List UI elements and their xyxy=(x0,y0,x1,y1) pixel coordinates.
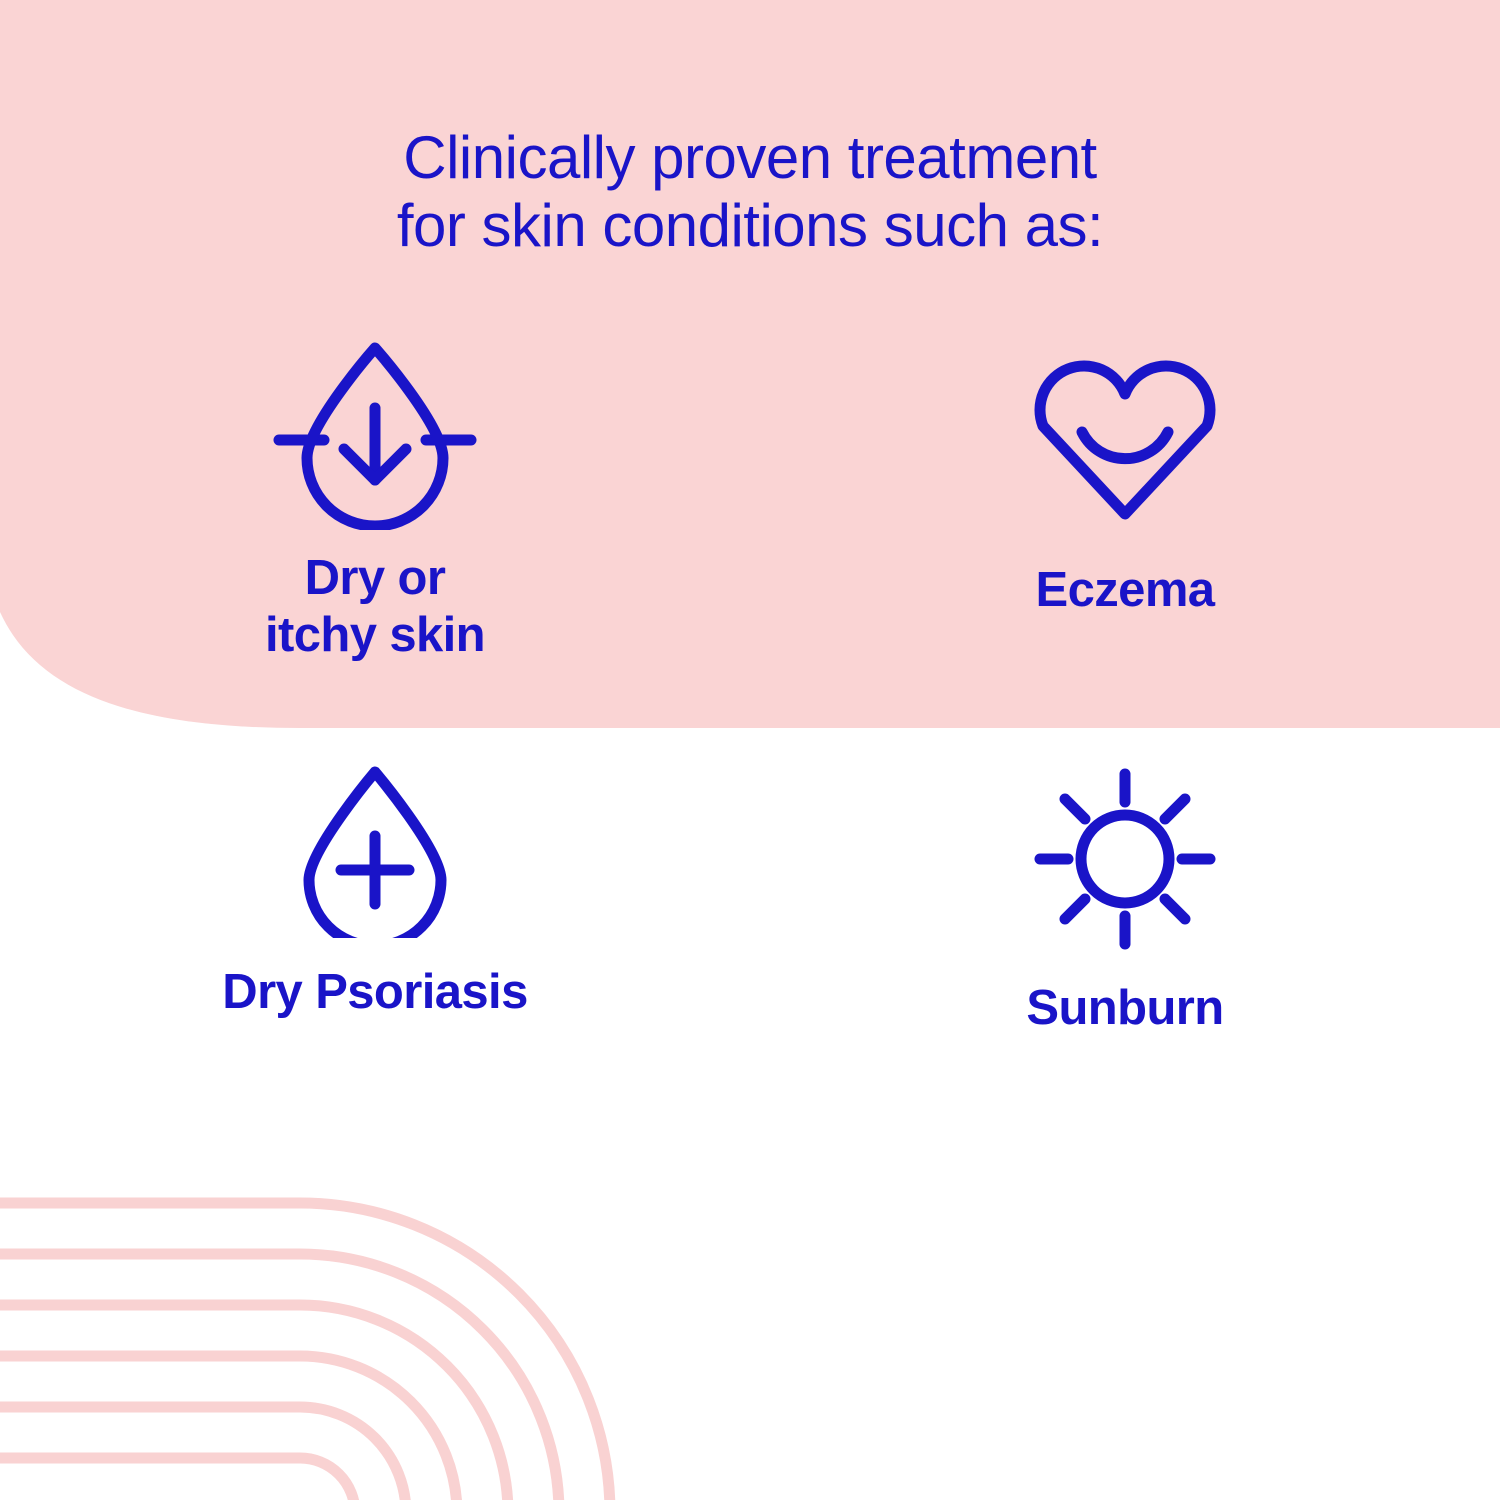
headline-line-2: for skin conditions such as: xyxy=(0,192,1500,260)
page-title: Clinically proven treatment for skin con… xyxy=(0,124,1500,260)
condition-label-line-1: Sunburn xyxy=(1026,981,1223,1035)
condition-item-sunburn: Sunburn xyxy=(750,752,1500,1052)
condition-label: Sunburn xyxy=(1026,980,1223,1037)
sun-icon xyxy=(1025,764,1225,954)
condition-label-line-2: itchy skin xyxy=(265,608,485,662)
content-layer: Clinically proven treatment for skin con… xyxy=(0,0,1500,1500)
condition-item-eczema: Eczema xyxy=(750,330,1500,690)
condition-label: Dry Psoriasis xyxy=(222,964,527,1021)
condition-item-dry-psoriasis: Dry Psoriasis xyxy=(0,752,750,1052)
conditions-row-2: Dry Psoriasis xyxy=(0,752,1500,1052)
condition-item-dry-or-itchy-skin: Dry or itchy skin xyxy=(0,330,750,690)
condition-label-line-1: Dry Psoriasis xyxy=(222,965,527,1019)
condition-label: Dry or itchy skin xyxy=(265,550,485,664)
headline-line-1: Clinically proven treatment xyxy=(0,124,1500,192)
conditions-grid: Dry or itchy skin xyxy=(0,330,1500,1052)
heart-smile-icon xyxy=(1025,352,1225,532)
condition-label-line-1: Dry or xyxy=(305,551,446,605)
water-drop-absorb-icon xyxy=(265,330,485,530)
water-drop-plus-icon xyxy=(295,758,455,938)
conditions-row-1: Dry or itchy skin xyxy=(0,330,1500,690)
condition-label-line-1: Eczema xyxy=(1036,563,1215,617)
condition-label: Eczema xyxy=(1036,562,1215,619)
promo-graphic: Clinically proven treatment for skin con… xyxy=(0,0,1500,1500)
